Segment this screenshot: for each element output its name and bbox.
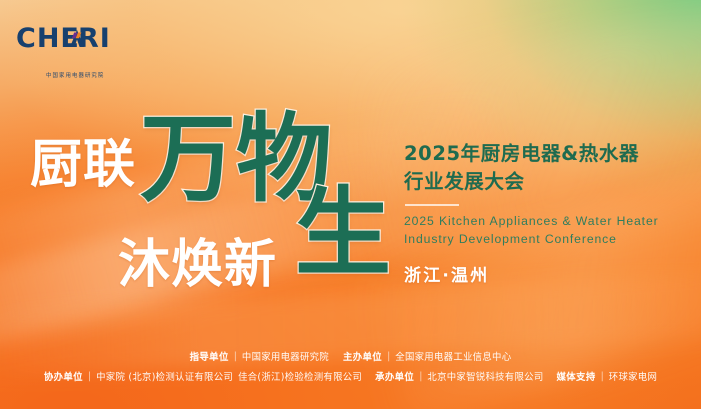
credit-group-organizer: 主办单位 | 全国家用电器工业信息中心 xyxy=(343,349,511,363)
conference-banner: CHE RI 中国家用电器研究院 厨联 万物 沐焕新 生 2025年厨房电器&热… xyxy=(0,0,701,409)
footer-row-2: 协办单位 | 中家院 (北京)检测认证有限公司 佳合(浙江)检验检测有限公司 承… xyxy=(44,369,657,383)
credit-separator: | xyxy=(419,371,422,382)
conference-location: 浙江·温州 xyxy=(404,261,694,286)
footer-credits: 指导单位 | 中国家用电器研究院 主办单位 | 全国家用电器工业信息中心 协办单… xyxy=(0,341,701,409)
credit-key: 主办单位 xyxy=(343,349,382,363)
credit-group-coorganizer: 协办单位 | 中家院 (北京)检测认证有限公司 佳合(浙江)检验检测有限公司 xyxy=(44,369,362,383)
footer-row-1: 指导单位 | 中国家用电器研究院 主办单位 | 全国家用电器工业信息中心 xyxy=(190,349,512,363)
credit-key: 协办单位 xyxy=(44,369,83,383)
credit-value: 中家院 (北京)检测认证有限公司 xyxy=(96,369,233,383)
credit-key: 媒体支持 xyxy=(557,369,596,383)
credit-group-undertaker: 承办单位 | 北京中家智锐科技有限公司 xyxy=(375,369,543,383)
credit-separator: | xyxy=(387,351,390,362)
credit-separator: | xyxy=(234,351,237,362)
credit-value: 中国家用电器研究院 xyxy=(242,349,329,363)
main-slogan: 厨联 万物 沐焕新 生 xyxy=(0,0,420,320)
credit-separator: | xyxy=(88,371,91,382)
credit-group-media: 媒体支持 | 环球家电网 xyxy=(557,369,658,383)
conference-title-cn-line2: 行业发展大会 xyxy=(404,168,694,196)
credit-separator: | xyxy=(601,371,604,382)
credit-key: 承办单位 xyxy=(375,369,414,383)
conference-info: 2025年厨房电器&热水器 行业发展大会 2025 Kitchen Applia… xyxy=(404,140,694,286)
conference-title-cn-line1: 2025年厨房电器&热水器 xyxy=(404,140,694,168)
title-divider xyxy=(405,204,459,206)
credit-value-secondary: 佳合(浙江)检验检测有限公司 xyxy=(238,369,362,383)
conference-title-en-line1: 2025 Kitchen Appliances & Water Heater xyxy=(404,213,694,230)
credit-value: 北京中家智锐科技有限公司 xyxy=(427,369,543,383)
conference-title-en-line2: Industry Development Conference xyxy=(404,231,694,248)
credit-group-guidance: 指导单位 | 中国家用电器研究院 xyxy=(190,349,329,363)
credit-value: 环球家电网 xyxy=(609,369,657,383)
slogan-word-chulian: 厨联 xyxy=(30,139,136,191)
slogan-word-sheng: 生 xyxy=(295,185,391,281)
slogan-word-muhuanxin: 沐焕新 xyxy=(118,239,277,291)
credit-key: 指导单位 xyxy=(190,349,229,363)
credit-value: 全国家用电器工业信息中心 xyxy=(395,349,511,363)
